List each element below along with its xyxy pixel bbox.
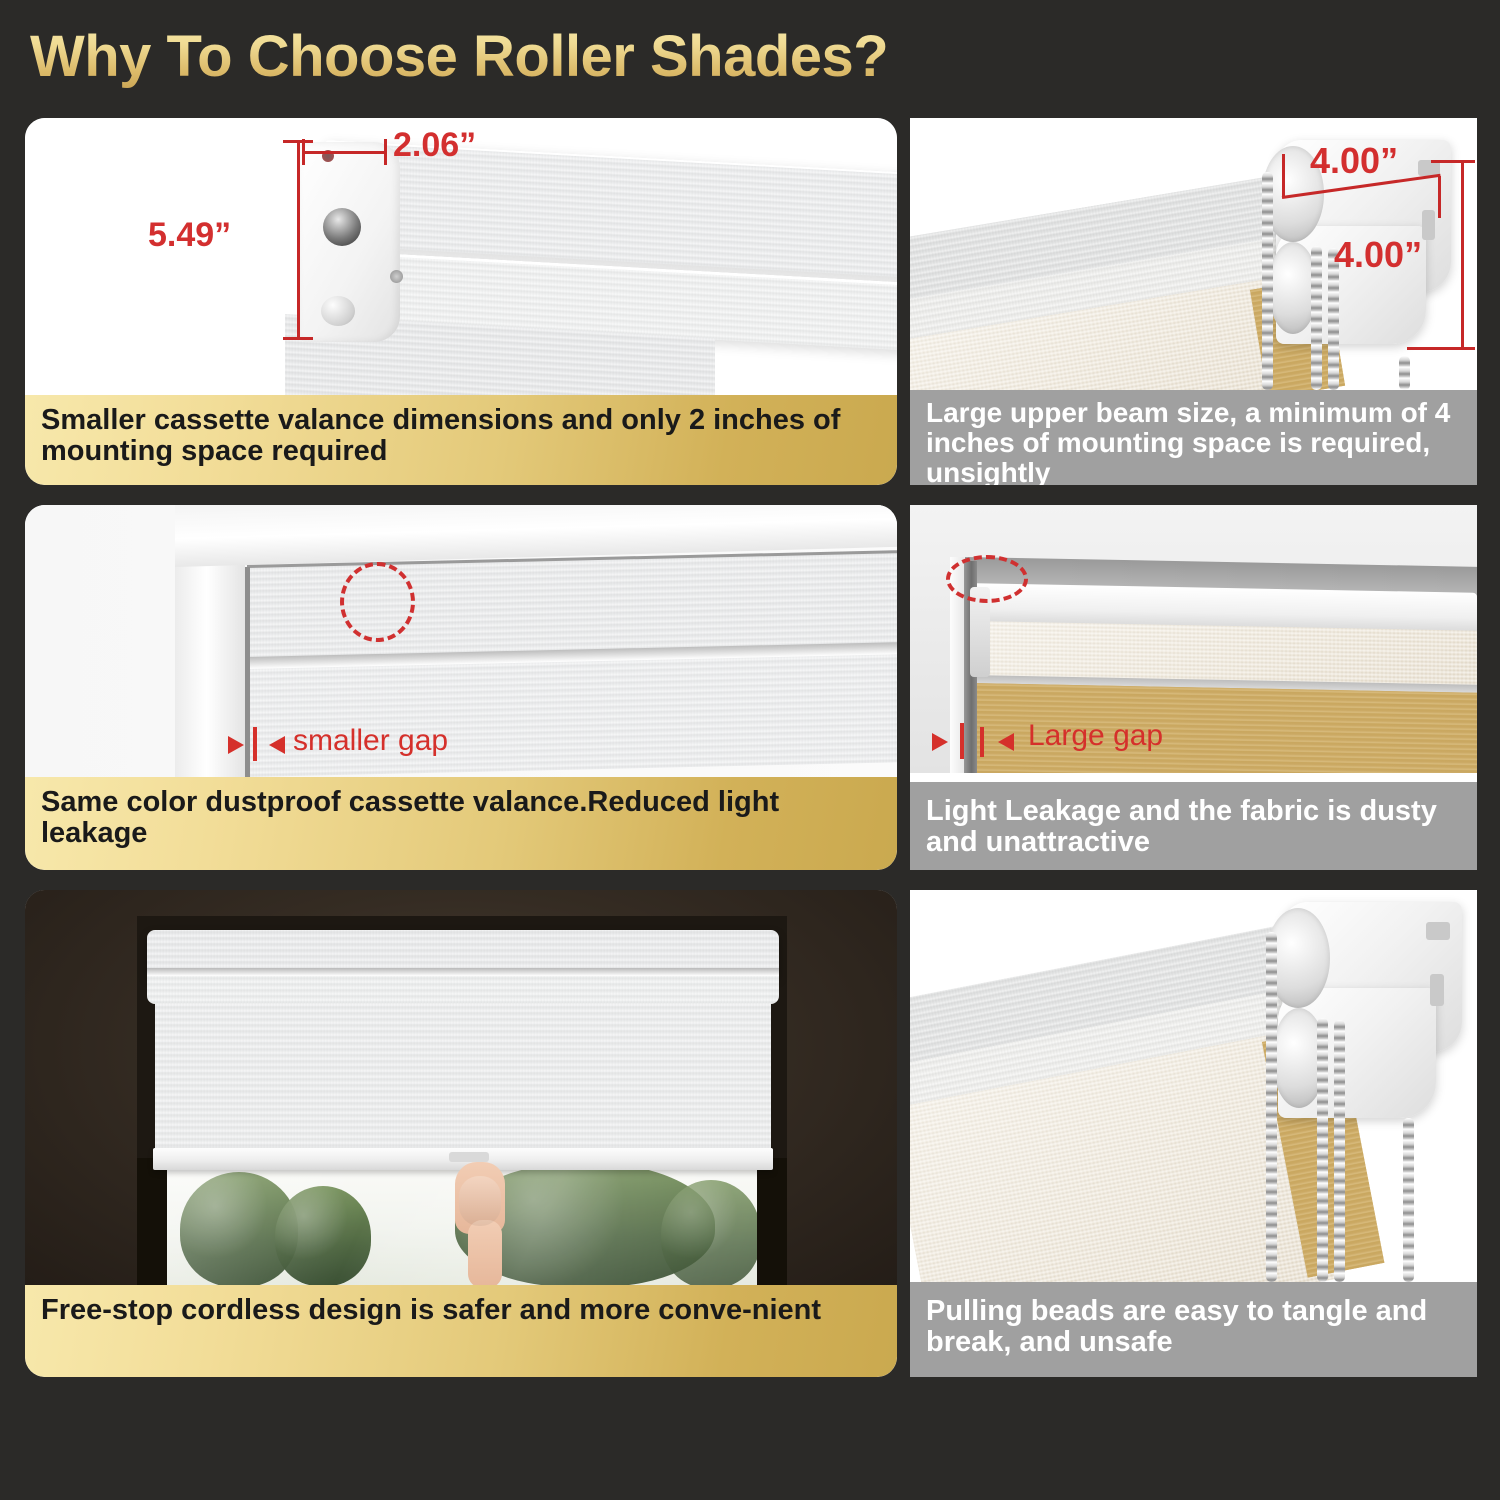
gap-arrow-right	[998, 733, 1014, 751]
panel-2-caption: Large upper beam size, a minimum of 4 in…	[910, 390, 1477, 485]
gap-arrow-left	[228, 736, 244, 754]
bracket-slot-mid	[1430, 974, 1444, 1006]
panel-4: Large gap Light Leakage and the fabric i…	[910, 505, 1477, 870]
large-gap-label: Large gap	[1028, 719, 1163, 753]
height-dimension-label: 5.49”	[148, 216, 231, 255]
panel-3-photo: smaller gap	[25, 505, 897, 777]
infographic-root: Why To Choose Roller Shades? 2.06” 5	[0, 0, 1500, 1500]
panel-1-caption: Smaller cassette valance dimensions and …	[25, 395, 897, 485]
valance-lower-clip	[321, 296, 355, 326]
bead-chain-front	[1262, 172, 1273, 390]
height-dimension-tick-bottom	[283, 337, 313, 340]
panel-1: 2.06” 5.49” Smaller cassette valance dim…	[25, 118, 897, 485]
head-rail-groove	[147, 968, 779, 976]
forearm	[468, 1220, 502, 1285]
gap-marker-bar-left	[960, 723, 964, 759]
height-dimension-line	[297, 140, 300, 340]
smaller-gap-label: smaller gap	[293, 724, 448, 758]
gap-marker-bar	[253, 727, 257, 761]
bracket-width-dimension-label: 4.00”	[1310, 140, 1398, 182]
width-dimension-line	[302, 151, 387, 154]
bead-chain-rear	[1317, 1018, 1328, 1282]
panel-6-photo	[910, 890, 1477, 1282]
panel-6-caption: Pulling beads are easy to tangle and bre…	[910, 1282, 1477, 1377]
shade-fabric-lower	[249, 654, 897, 777]
window-jamb-right	[757, 1158, 787, 1285]
panel-2-photo: 4.00” 4.00”	[910, 118, 1477, 390]
fingers-highlight	[459, 1176, 501, 1226]
bracket-height-dimension-label: 4.00”	[1334, 234, 1422, 276]
bead-chain-tail	[1399, 356, 1410, 390]
valance-screw-mid	[390, 270, 403, 283]
panel-4-photo: Large gap	[910, 505, 1477, 773]
gap-arrow-left	[932, 733, 948, 751]
bracket-slot-top	[1426, 922, 1450, 940]
panel-5-photo	[25, 890, 897, 1285]
panel-5-caption: Free-stop cordless design is safer and m…	[25, 1285, 897, 1377]
bead-chain-rear	[1311, 246, 1322, 390]
width-dimension-tick-right	[384, 139, 387, 165]
bottom-rail-tab	[449, 1152, 489, 1162]
page-title: Why To Choose Roller Shades?	[30, 22, 1130, 92]
bead-chain-tail	[1403, 1118, 1414, 1282]
bracket-height-tick-bottom	[1407, 347, 1475, 350]
gap-shadow-line	[245, 567, 250, 777]
tight-fit-highlight-circle	[340, 562, 415, 642]
bracket-height-dimension-line	[1461, 160, 1464, 350]
bead-chain-loop	[1334, 1020, 1345, 1282]
window-jamb-left	[137, 1158, 167, 1285]
panel-3: smaller gap Same color dustproof cassett…	[25, 505, 897, 870]
panel-3-caption: Same color dustproof cassette valance.Re…	[25, 777, 897, 870]
bead-chain-front	[1266, 932, 1277, 1282]
panel-2: 4.00” 4.00” Large upper beam size, a min…	[910, 118, 1477, 485]
panel-4-caption: Light Leakage and the fabric is dusty an…	[910, 782, 1477, 870]
cassette-head-lower	[147, 976, 779, 1004]
gap-arrow-right	[269, 736, 285, 754]
shade-fabric-main	[155, 1003, 771, 1153]
bracket-width-tick-left	[1282, 154, 1285, 196]
gap-highlight-circle	[946, 555, 1028, 603]
bracket-slot-mid	[1422, 210, 1435, 240]
valance-roller-socket	[323, 208, 361, 246]
bracket-width-tick-right	[1438, 176, 1441, 218]
panel-6: Pulling beads are easy to tangle and bre…	[910, 890, 1477, 1377]
width-dimension-label: 2.06”	[393, 126, 476, 165]
bracket-height-tick-top	[1431, 160, 1475, 163]
panel-5: Free-stop cordless design is safer and m…	[25, 890, 897, 1377]
gap-marker-bar-right	[980, 727, 984, 757]
height-dimension-tick-top	[283, 140, 313, 143]
panel-1-photo: 2.06” 5.49”	[25, 118, 897, 398]
